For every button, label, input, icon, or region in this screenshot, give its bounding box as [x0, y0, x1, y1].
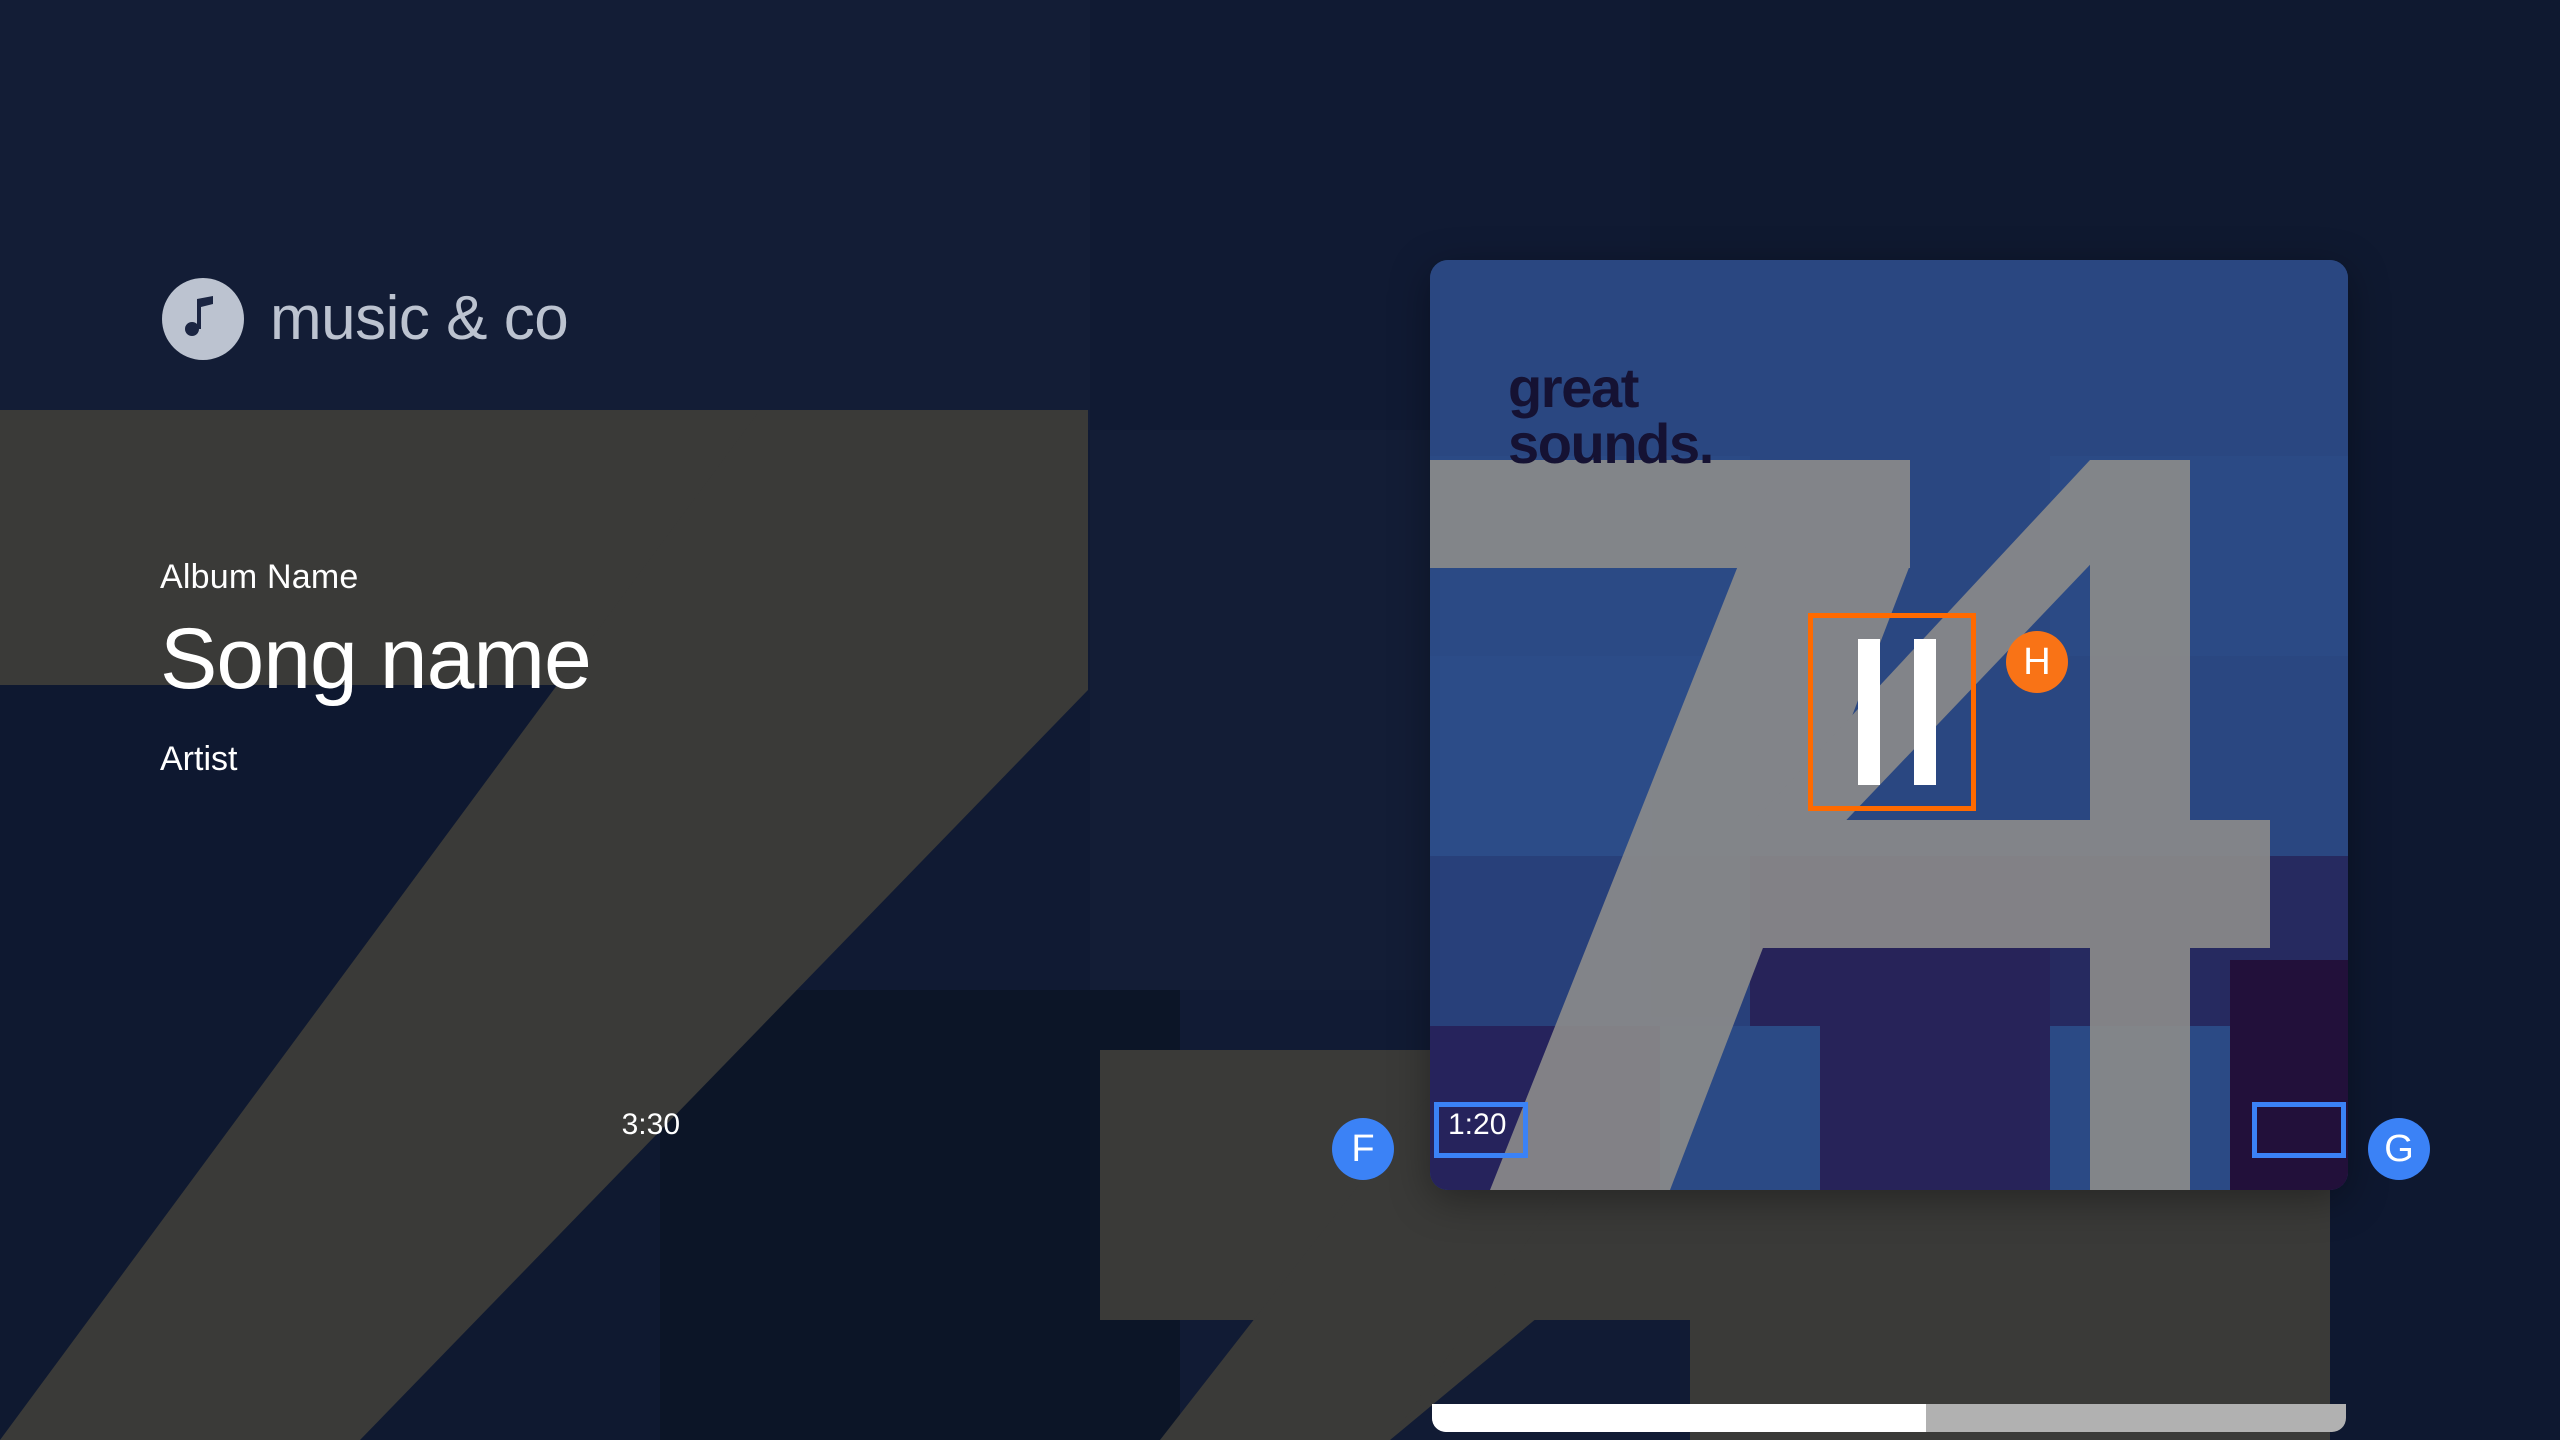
- brand-logo[interactable]: music & co: [162, 278, 568, 360]
- app-root: music & co Album Name Song name Artist: [0, 0, 2560, 1440]
- annotation-box-pause: [1808, 613, 1976, 811]
- annotation-marker-h: H: [2006, 631, 2068, 693]
- annotation-marker-g: G: [2368, 1118, 2430, 1180]
- progress-fill: [1432, 1404, 1926, 1432]
- total-time: 3:30: [622, 1110, 680, 1140]
- album-cover-title-line2: sounds.: [1508, 416, 1713, 472]
- brand-name: music & co: [270, 288, 568, 350]
- album-name: Album Name: [160, 560, 591, 594]
- annotation-box-current-time: [1434, 1102, 1528, 1158]
- artist-name: Artist: [160, 742, 591, 776]
- annotation-marker-f: F: [1332, 1118, 1394, 1180]
- music-note-icon: [162, 278, 244, 360]
- song-title: Song name: [160, 616, 591, 702]
- progress-bar[interactable]: [1432, 1404, 2346, 1432]
- annotation-box-total-time: [2252, 1102, 2346, 1158]
- now-playing-info: Album Name Song name Artist: [160, 560, 591, 776]
- album-cover-title-line1: great: [1508, 360, 1713, 416]
- album-cover-title: great sounds.: [1508, 360, 1713, 472]
